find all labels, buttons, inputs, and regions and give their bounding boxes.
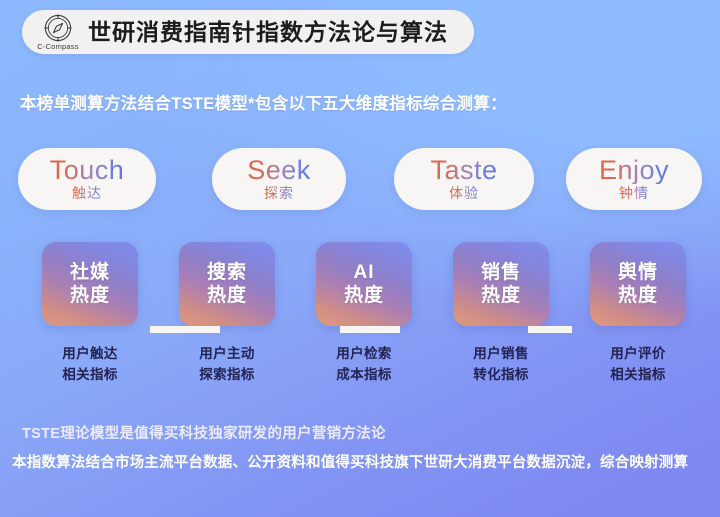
- metric-caption-social-line2: 相关指标: [30, 365, 150, 386]
- metric-caption-search-line2: 探索指标: [167, 365, 287, 386]
- metric-caption-ai-line1: 用户检索: [304, 344, 424, 365]
- metric-caption-sentiment-line1: 用户评价: [578, 344, 698, 365]
- stage-pill-taste-cn: 体验: [449, 185, 479, 201]
- footer-note-line1: TSTE理论模型是值得买科技独家研发的用户营销方法论: [22, 422, 386, 443]
- page-title: 世研消费指南针指数方法论与算法: [88, 21, 448, 44]
- stage-pill-enjoy[interactable]: Enjoy 钟情: [566, 148, 702, 210]
- metric-caption-ai: 用户检索 成本指标: [304, 344, 424, 385]
- metric-card-search-line1: 搜索: [207, 261, 247, 284]
- metric-card-search[interactable]: 搜索 热度: [179, 242, 275, 326]
- metric-card-ai-line2: 热度: [344, 284, 384, 307]
- metric-card-social[interactable]: 社媒 热度: [42, 242, 138, 326]
- subtitle-text: 本榜单测算方法结合TSTE模型*包含以下五大维度指标综合测算：: [20, 90, 507, 114]
- stage-pill-seek[interactable]: Seek 探索: [212, 148, 346, 210]
- stage-pill-seek-cn: 探索: [264, 185, 294, 201]
- stage-pill-enjoy-cn: 钟情: [619, 185, 649, 201]
- footer-note-line2: 本指数算法结合市场主流平台数据、公开资料和值得买科技旗下世研大消费平台数据沉淀，…: [12, 452, 712, 475]
- metric-card-social-line2: 热度: [70, 284, 110, 307]
- poster-canvas: C-Compass 世研消费指南针指数方法论与算法 本榜单测算方法结合TSTE模…: [0, 0, 720, 517]
- metric-caption-row: 用户触达 相关指标 用户主动 探索指标 用户检索 成本指标 用户销售 转化指标 …: [0, 344, 720, 390]
- metric-card-sales[interactable]: 销售 热度: [453, 242, 549, 326]
- metric-caption-social-line1: 用户触达: [30, 344, 150, 365]
- metric-caption-ai-line2: 成本指标: [304, 365, 424, 386]
- metric-caption-search: 用户主动 探索指标: [167, 344, 287, 385]
- stage-pill-touch[interactable]: Touch 触达: [18, 148, 156, 210]
- stage-pill-taste[interactable]: Taste 体验: [394, 148, 534, 210]
- metric-caption-sales: 用户销售 转化指标: [441, 344, 561, 385]
- title-banner: C-Compass 世研消费指南针指数方法论与算法: [22, 10, 474, 54]
- metric-card-sentiment-line1: 舆情: [618, 261, 658, 284]
- compass-icon: [43, 13, 73, 43]
- metric-card-sales-line2: 热度: [481, 284, 521, 307]
- stage-pill-touch-en: Touch: [50, 157, 125, 185]
- metric-card-ai-line1: AI: [354, 261, 375, 284]
- brand-logo: C-Compass: [36, 10, 80, 54]
- metric-caption-sales-line1: 用户销售: [441, 344, 561, 365]
- metric-card-search-line2: 热度: [207, 284, 247, 307]
- metric-caption-sentiment: 用户评价 相关指标: [578, 344, 698, 385]
- metric-card-row: 社媒 热度 搜索 热度 AI 热度 销售 热度 舆情 热度: [0, 242, 720, 328]
- brand-logo-label: C-Compass: [37, 42, 78, 51]
- metric-card-social-line1: 社媒: [70, 261, 110, 284]
- stage-pill-seek-en: Seek: [247, 157, 311, 185]
- metric-card-ai[interactable]: AI 热度: [316, 242, 412, 326]
- stage-pill-enjoy-en: Enjoy: [599, 157, 669, 185]
- stage-pill-taste-en: Taste: [430, 157, 497, 185]
- metric-caption-social: 用户触达 相关指标: [30, 344, 150, 385]
- metric-caption-search-line1: 用户主动: [167, 344, 287, 365]
- metric-caption-sales-line2: 转化指标: [441, 365, 561, 386]
- connector-1: [150, 326, 220, 333]
- connector-2: [340, 326, 400, 333]
- metric-card-sales-line1: 销售: [481, 261, 521, 284]
- connector-3: [528, 326, 572, 333]
- stage-pill-row: Touch 触达 Seek 探索 Taste 体验 Enjoy 钟情: [0, 148, 720, 210]
- metric-caption-sentiment-line2: 相关指标: [578, 365, 698, 386]
- metric-card-sentiment-line2: 热度: [618, 284, 658, 307]
- stage-pill-touch-cn: 触达: [72, 185, 102, 201]
- metric-card-sentiment[interactable]: 舆情 热度: [590, 242, 686, 326]
